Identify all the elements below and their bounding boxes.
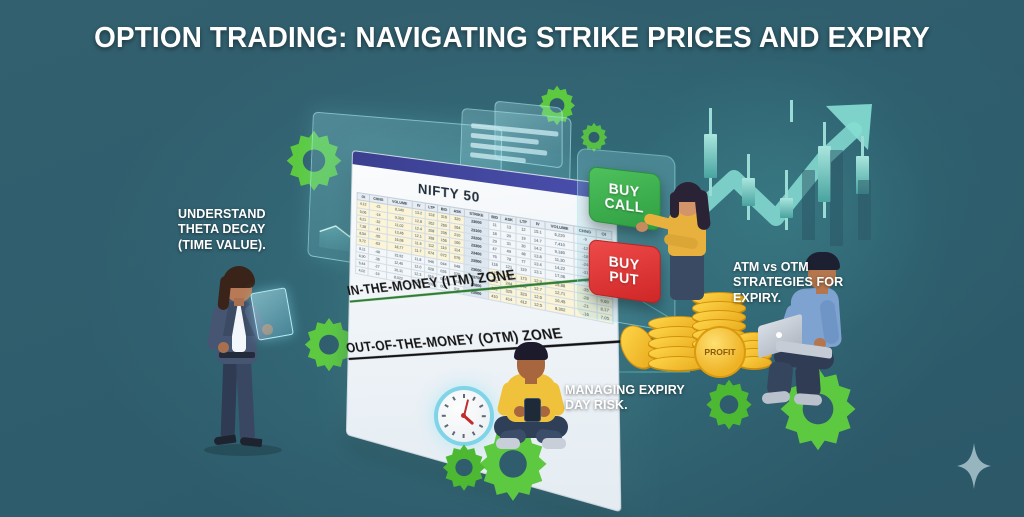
table-cell: 410 [488,292,501,303]
annotation-expiry-risk: MANAGING EXPIRY DAY RISK. [565,383,685,414]
tablet-device [250,287,294,341]
table-cell: 414 [501,294,516,305]
smartphone-icon [524,398,541,422]
page-title: OPTION TRADING: NAVIGATING STRIKE PRICES… [20,22,1003,55]
gear-icon [437,440,491,494]
annotation-atm-otm: ATM vs OTM STRATEGIES FOR EXPIRY. [733,260,853,306]
table-cell: 12.6 [411,277,424,287]
annotation-theta-decay: UNDERSTAND THETA DECAY (TIME VALUE). [178,207,303,253]
option-chain-table: OICHNGVOLUMEIVLTPBIDASKSTRIKEBIDASKLTPIV… [355,192,614,325]
gear-icon [700,375,758,433]
buy-call-line2: CALL [605,195,644,216]
table-cell: 12.5 [531,300,546,311]
table-cell: 4,02 [356,266,369,276]
infographic-canvas: OPTION TRADING: NAVIGATING STRIKE PRICES… [0,0,1024,517]
pointing-woman-figure [648,182,728,300]
table-cell: 412 [517,297,531,308]
profit-coin: PROFIT [694,326,746,378]
dashboard-small-panel [495,100,563,168]
analyst-woman-figure [186,254,298,459]
table-cell: 011 [450,284,465,295]
table-cell: 008 [437,282,449,292]
sparkle-icon [957,443,991,489]
table-cell: 009 [424,279,437,289]
index-label: NIFTY 50 [418,180,480,205]
